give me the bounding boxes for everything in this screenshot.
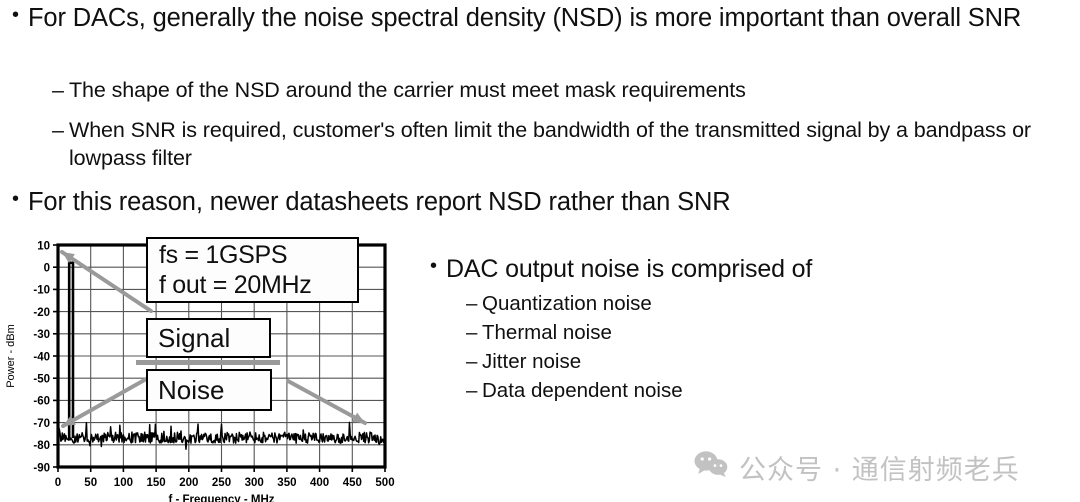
bullet-marker: – [52, 76, 69, 104]
x-tick-label: 100 [114, 477, 133, 489]
x-tick-label: 200 [179, 477, 198, 489]
bullet-marker: – [52, 116, 69, 144]
x-tick-label: 350 [277, 477, 296, 489]
y-tick-label: 10 [37, 240, 50, 252]
bullet-marker: – [466, 349, 482, 376]
y-tick-label: -50 [33, 374, 50, 386]
bullet-text: The shape of the NSD around the carrier … [69, 76, 746, 104]
x-tick-label: 0 [55, 477, 61, 489]
right-list-item-label: Quantization noise [482, 291, 652, 318]
arrow-settings-to-carrier [62, 252, 151, 311]
right-heading: • DAC output noise is comprised of [430, 253, 900, 286]
right-list-item-label: Thermal noise [482, 320, 612, 347]
right-list-item-label: Data dependent noise [482, 378, 683, 405]
watermark-text: 公众号 · 通信射频老兵 [739, 448, 1020, 487]
y-tick-label: 0 [44, 263, 50, 275]
x-tick-label: 400 [310, 477, 329, 489]
x-tick-label: 150 [147, 477, 166, 489]
arrow-noise-to-floor-left [63, 378, 148, 426]
settings-callout: fs = 1GSPS f out = 20MHz [146, 237, 359, 303]
right-list-item: – Quantization noise [466, 291, 652, 318]
right-list-item: – Thermal noise [466, 320, 612, 347]
x-tick-label: 450 [343, 477, 362, 489]
bullet-item-2: – The shape of the NSD around the carrie… [52, 76, 1072, 104]
watermark: 公众号 · 通信射频老兵 [694, 448, 1020, 487]
y-tick-label: -30 [33, 329, 50, 341]
x-tick-label: 250 [212, 477, 231, 489]
y-tick-label: -60 [33, 396, 50, 408]
bullet-text: For DACs, generally the noise spectral d… [28, 2, 1021, 35]
bullet-item-3: – When SNR is required, customer's often… [52, 116, 1077, 173]
signal-pointer-bar [136, 360, 280, 365]
bullet-marker: – [466, 378, 482, 405]
right-list-item: – Data dependent noise [466, 378, 683, 405]
bullet-marker: • [430, 253, 446, 279]
x-tick-label: 500 [375, 477, 394, 489]
right-heading-text: DAC output noise is comprised of [446, 253, 812, 286]
y-tick-label: -90 [33, 462, 50, 474]
noise-callout-label: Noise [158, 375, 270, 405]
x-tick-label: 50 [84, 477, 97, 489]
bullet-marker: • [12, 186, 28, 212]
y-tick-label: -80 [33, 440, 50, 452]
y-tick-label: -10 [33, 285, 50, 297]
right-list-item: – Jitter noise [466, 349, 581, 376]
bullet-text: When SNR is required, customer's often l… [69, 116, 1077, 173]
bullet-marker: • [12, 2, 28, 28]
y-tick-label: -40 [33, 351, 50, 363]
x-tick-label: 300 [245, 477, 264, 489]
settings-callout-line-2: f out = 20MHz [159, 270, 357, 300]
bullet-item-4: • For this reason, newer datasheets repo… [12, 186, 1012, 219]
slide-body: • For DACs, generally the noise spectral… [0, 0, 1080, 502]
noise-callout: Noise [146, 369, 272, 411]
signal-callout-label: Signal [158, 323, 269, 353]
right-list-item-label: Jitter noise [482, 349, 581, 376]
bullet-item-1: • For DACs, generally the noise spectral… [12, 2, 1072, 35]
signal-callout: Signal [146, 318, 271, 358]
y-axis-title: Power - dBm [5, 324, 17, 388]
bullet-marker: – [466, 320, 482, 347]
x-axis-title: f - Frequency - MHz [168, 494, 274, 502]
wechat-icon [694, 450, 728, 485]
arrow-noise-to-floor-right [288, 381, 365, 423]
bullet-text: For this reason, newer datasheets report… [28, 186, 731, 219]
bullet-marker: – [466, 291, 482, 318]
y-tick-label: -20 [33, 307, 50, 319]
settings-callout-line-1: fs = 1GSPS [159, 240, 357, 270]
y-tick-label: -70 [33, 418, 50, 430]
